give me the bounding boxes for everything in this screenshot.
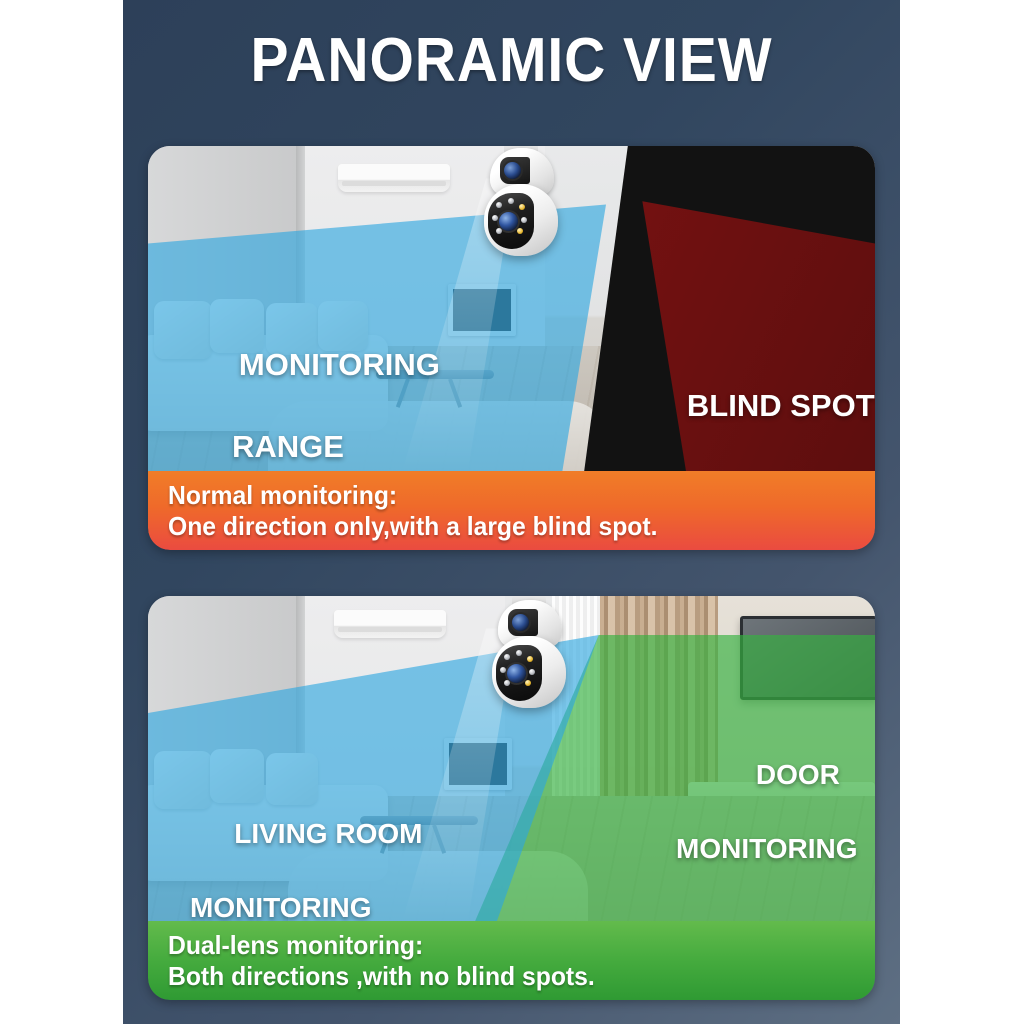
cushion	[210, 749, 264, 803]
coffee-table	[360, 816, 478, 825]
caption-line-2: One direction only,with a large blind sp…	[168, 511, 840, 541]
cushion	[318, 301, 368, 351]
rug	[288, 851, 588, 921]
page-title: PANORAMIC VIEW	[154, 14, 869, 106]
cushion	[266, 753, 318, 805]
wall-niche	[448, 284, 516, 336]
room-illustration-top	[148, 146, 875, 471]
caption-normal-monitoring: Normal monitoring: One direction only,wi…	[148, 471, 875, 550]
caption-line-1: Normal monitoring:	[168, 480, 840, 510]
cushion	[266, 303, 318, 355]
scene-dual-lens-monitoring: LIVING ROOM MONITORING DOOR MONITORING	[148, 596, 875, 921]
cushion	[210, 299, 264, 353]
cushion	[154, 301, 212, 359]
television	[740, 616, 875, 700]
cushion	[154, 751, 212, 809]
air-conditioner-icon	[334, 610, 446, 638]
wall-niche	[444, 738, 512, 790]
caption-line-1: Dual-lens monitoring:	[168, 930, 840, 960]
rug	[268, 401, 608, 471]
panel-normal-monitoring: MONITORING RANGE BLIND SPOT	[148, 146, 875, 550]
caption-line-2: Both directions ,with no blind spots.	[168, 961, 840, 991]
coffee-table	[376, 370, 494, 379]
infographic-stage: PANORAMIC VIEW	[0, 0, 1024, 1024]
room-illustration-bottom	[148, 596, 875, 921]
air-conditioner-icon	[338, 164, 450, 192]
scene-normal-monitoring: MONITORING RANGE BLIND SPOT	[148, 146, 875, 471]
panel-dual-lens-monitoring: LIVING ROOM MONITORING DOOR MONITORING	[148, 596, 875, 1000]
caption-dual-lens-monitoring: Dual-lens monitoring: Both directions ,w…	[148, 921, 875, 1000]
